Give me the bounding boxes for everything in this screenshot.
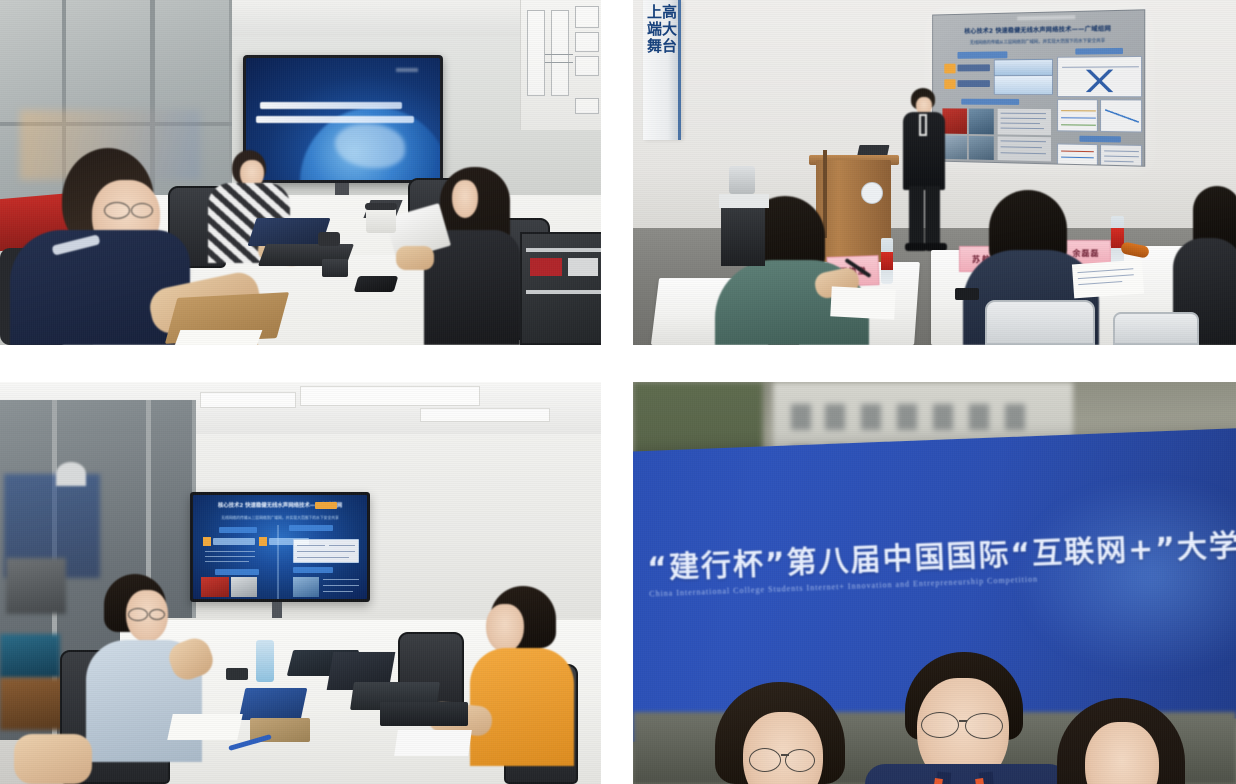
slide-chip-left bbox=[219, 527, 257, 533]
wall-display: 核心技术2 快速稳健无线水声网络技术——广域组网 无线网络的传输从三层网络到广域… bbox=[190, 492, 370, 602]
slide-chart-waveform bbox=[1057, 56, 1142, 97]
eyeglasses bbox=[749, 748, 781, 772]
water-bottle bbox=[256, 640, 274, 682]
paper-sheet-2 bbox=[394, 730, 472, 756]
face bbox=[743, 712, 823, 784]
small-box bbox=[322, 259, 348, 277]
eyeglasses bbox=[149, 609, 165, 620]
smartphone bbox=[955, 288, 979, 300]
hand bbox=[396, 246, 434, 270]
trousers-left bbox=[909, 186, 924, 248]
face bbox=[486, 604, 524, 652]
whiteboard bbox=[520, 0, 601, 130]
slide-figure-2 bbox=[994, 75, 1053, 95]
scoring-sheet bbox=[1072, 260, 1144, 299]
slide-section-chip-mid bbox=[961, 99, 1019, 105]
reflected-equipment bbox=[6, 558, 66, 614]
slide-section-chip-bottom bbox=[1079, 136, 1120, 143]
orange-tshirt bbox=[470, 648, 574, 766]
electric-kettle bbox=[729, 166, 755, 194]
bullet-marker-1 bbox=[944, 64, 955, 74]
slide-photo-thumb-3 bbox=[942, 136, 967, 160]
trousers-right bbox=[925, 186, 940, 248]
slide-logo bbox=[396, 68, 418, 72]
scoring-sheet bbox=[830, 286, 895, 319]
reflected-box bbox=[0, 634, 60, 678]
paper-sheet bbox=[167, 714, 243, 740]
slide-header-bar bbox=[1017, 15, 1075, 20]
slide-divider bbox=[277, 525, 279, 599]
wall-display bbox=[243, 55, 443, 183]
side-cabinet bbox=[721, 208, 765, 266]
slide-text-line-2 bbox=[256, 116, 414, 123]
eyeglasses bbox=[785, 749, 815, 772]
keyboard-2 bbox=[380, 702, 468, 726]
shoe-left bbox=[905, 243, 927, 251]
slide-text-card bbox=[1100, 144, 1142, 167]
slide-chart-c bbox=[1057, 143, 1098, 166]
display-screen bbox=[246, 58, 440, 180]
vertical-banner-text: 上高端大舞台 bbox=[643, 4, 681, 54]
navy-jacket bbox=[865, 764, 1069, 784]
slide-chart-b bbox=[1100, 99, 1142, 132]
photo-meeting-room-discussion bbox=[0, 0, 601, 345]
wall-lamp bbox=[56, 462, 86, 486]
bullet-marker-1 bbox=[203, 537, 211, 546]
slide-chart-a bbox=[1057, 99, 1098, 132]
side-shelf bbox=[719, 194, 769, 208]
photo-office-slide-review: 核心技术2 快速稳健无线水声网络技术——广域组网 无线网络的传输从三层网络到广域… bbox=[0, 382, 601, 784]
glasses-bridge bbox=[781, 754, 789, 756]
projection-screen: 核心技术2 快速稳健无线水声网络技术——广域组网 无线网络的传输从三层网络到广域… bbox=[932, 9, 1145, 167]
photo-grid: 上高端大舞台 核心技术2 快速稳健无线水声网络技术——广域组网 无线网络的传输从… bbox=[0, 0, 1236, 784]
bullet-label-2 bbox=[957, 80, 989, 87]
slide-photo-thumb-1 bbox=[201, 577, 229, 597]
smartphone bbox=[354, 276, 399, 292]
slide-text-block bbox=[998, 109, 1051, 136]
slide-photo-thumb-3 bbox=[293, 577, 319, 597]
cup-lid bbox=[365, 203, 397, 210]
bullet-label-1 bbox=[213, 538, 255, 545]
slide-chip-bottom-right bbox=[293, 567, 333, 573]
computer-mouse bbox=[318, 232, 340, 246]
bullet-label-1 bbox=[957, 64, 989, 71]
podium-emblem bbox=[861, 182, 883, 204]
slide-figure-panel bbox=[293, 539, 359, 563]
photo-competition-presentation: 上高端大舞台 核心技术2 快速稳健无线水声网络技术——广域组网 无线网络的传输从… bbox=[633, 0, 1236, 345]
bullet-marker-2 bbox=[259, 537, 267, 546]
eyeglasses bbox=[128, 608, 148, 621]
slide-photo-thumb-2 bbox=[969, 109, 994, 135]
slide-text-block-2 bbox=[998, 136, 1051, 161]
equipment-case bbox=[520, 232, 601, 345]
leg bbox=[14, 734, 92, 784]
eyeglasses bbox=[921, 712, 959, 738]
face bbox=[1085, 722, 1159, 784]
slide-chip-right bbox=[289, 525, 333, 531]
banquet-chair-2 bbox=[1113, 312, 1199, 345]
small-device bbox=[226, 668, 248, 680]
necktie bbox=[921, 116, 925, 134]
slide-photo-thumb-4 bbox=[969, 136, 994, 160]
bullet-marker-2 bbox=[944, 79, 955, 89]
podium bbox=[816, 160, 891, 268]
water-bottle-1 bbox=[881, 238, 893, 284]
photo-team-group-at-banner: “建行杯”第八届中国国际“互联网+”大学生创新创业大赛 China Intern… bbox=[633, 382, 1236, 784]
slide-subtitle: 无线网络的传输从三层网络到广域网，并实现大范围下的水下安全共享 bbox=[201, 515, 359, 521]
slide-text-line-1 bbox=[260, 102, 402, 109]
display-screen: 核心技术2 快速稳健无线水声网络技术——广域组网 无线网络的传输从三层网络到广域… bbox=[193, 495, 367, 599]
vertical-banner: 上高端大舞台 bbox=[643, 0, 681, 140]
slide-subtitle: 无线网络的传输从三层网络到广域网，并实现大范围下的水下安全共享 bbox=[942, 37, 1135, 46]
water-bottle-2 bbox=[1111, 216, 1124, 264]
document-folder bbox=[239, 688, 308, 720]
slide-photo-thumb-1 bbox=[942, 108, 967, 134]
eyeglasses bbox=[965, 713, 1003, 739]
glasses-bridge bbox=[959, 720, 967, 722]
banquet-chair-1 bbox=[985, 300, 1095, 345]
coffee-cup bbox=[366, 207, 396, 233]
slide-chip-bottom-left bbox=[215, 569, 259, 575]
slide-section-chip-right bbox=[1075, 48, 1123, 55]
slide-title: 核心技术2 快速稳健无线水声网络技术——广域组网 bbox=[939, 23, 1140, 36]
slide-section-chip-left bbox=[957, 51, 1007, 58]
paper-sheet bbox=[172, 330, 263, 345]
slide-photo-thumb-2 bbox=[231, 577, 257, 597]
slide-title: 核心技术2 快速稳健无线水声网络技术——广域组网 bbox=[197, 501, 363, 509]
slide-highlight-chip bbox=[315, 502, 337, 509]
